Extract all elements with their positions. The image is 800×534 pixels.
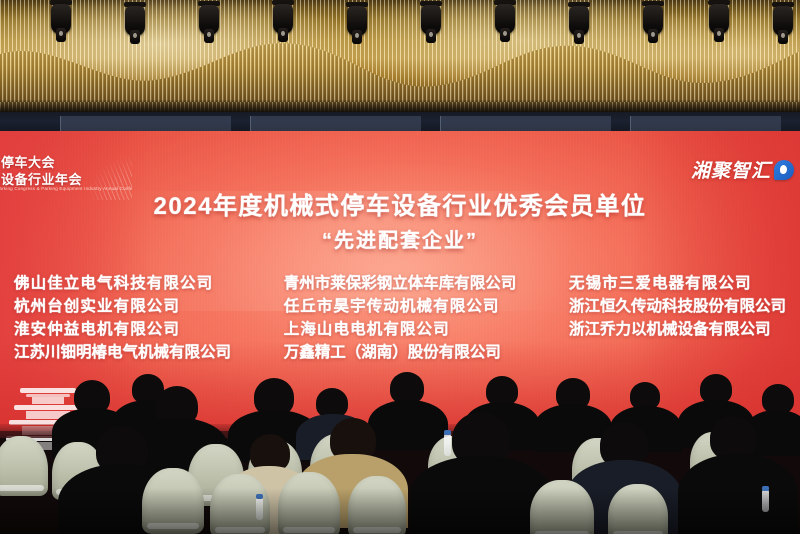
stage-light-icon bbox=[640, 1, 666, 49]
stage-light-icon bbox=[344, 2, 370, 50]
stage-light-icon bbox=[566, 2, 592, 50]
stage-light-icon bbox=[418, 1, 444, 49]
company-name: 任丘市昊宇传动机械有限公司 bbox=[284, 295, 517, 318]
sponsor-logo-text: 湘聚智汇 bbox=[691, 156, 771, 183]
sponsor-logo: 湘聚智汇 bbox=[691, 156, 794, 183]
stage-light-icon bbox=[492, 0, 518, 48]
stage-light-icon bbox=[196, 1, 222, 49]
droplet-mark-icon bbox=[774, 160, 794, 180]
company-name: 江苏川钿明椿电气机械有限公司 bbox=[14, 341, 231, 364]
stage-lights bbox=[0, 0, 800, 50]
chair bbox=[0, 436, 48, 496]
award-title: 2024年度机械式停车设备行业优秀会员单位 bbox=[0, 190, 800, 224]
water-bottle bbox=[444, 434, 451, 456]
award-column-3: 无锡市三爱电器有限公司 浙江恒久传动科技股份有限公司 浙江乔力以机械设备有限公司 bbox=[569, 272, 786, 364]
company-name: 上海山电电机有限公司 bbox=[284, 318, 517, 341]
award-column-1: 佛山佳立电气科技有限公司 杭州台创实业有限公司 淮安仲益电机有限公司 江苏川钿明… bbox=[14, 272, 231, 364]
company-name: 浙江乔力以机械设备有限公司 bbox=[569, 318, 786, 341]
ceiling bbox=[0, 0, 800, 120]
stage-light-icon bbox=[706, 0, 732, 48]
bottle-cap bbox=[444, 430, 451, 435]
company-name: 万鑫精工（湖南）股份有限公司 bbox=[284, 341, 517, 364]
company-name: 无锡市三爱电器有限公司 bbox=[569, 272, 786, 295]
stage-light-icon bbox=[270, 0, 296, 48]
stage-light-icon bbox=[48, 0, 74, 48]
award-headline: 2024年度机械式停车设备行业优秀会员单位 “先进配套企业” bbox=[0, 190, 800, 256]
foreground-shadow bbox=[0, 488, 800, 534]
company-name: 杭州台创实业有限公司 bbox=[14, 295, 231, 318]
company-name: 青州市莱保彩钢立体车库有限公司 bbox=[284, 272, 517, 295]
company-name: 浙江恒久传动科技股份有限公司 bbox=[569, 295, 786, 318]
audience bbox=[0, 372, 800, 534]
company-name: 淮安仲益电机有限公司 bbox=[14, 318, 231, 341]
conference-photo: 城市停车大会 停车设备行业年会 China Parking Congress &… bbox=[0, 0, 800, 534]
stage-light-icon bbox=[122, 2, 148, 50]
award-column-2: 青州市莱保彩钢立体车库有限公司 任丘市昊宇传动机械有限公司 上海山电电机有限公司… bbox=[284, 272, 517, 364]
award-recipient-columns: 佛山佳立电气科技有限公司 杭州台创实业有限公司 淮安仲益电机有限公司 江苏川钿明… bbox=[0, 272, 800, 364]
stage-light-icon bbox=[770, 2, 796, 50]
award-subtitle: “先进配套企业” bbox=[0, 226, 800, 256]
company-name: 佛山佳立电气科技有限公司 bbox=[14, 272, 231, 295]
